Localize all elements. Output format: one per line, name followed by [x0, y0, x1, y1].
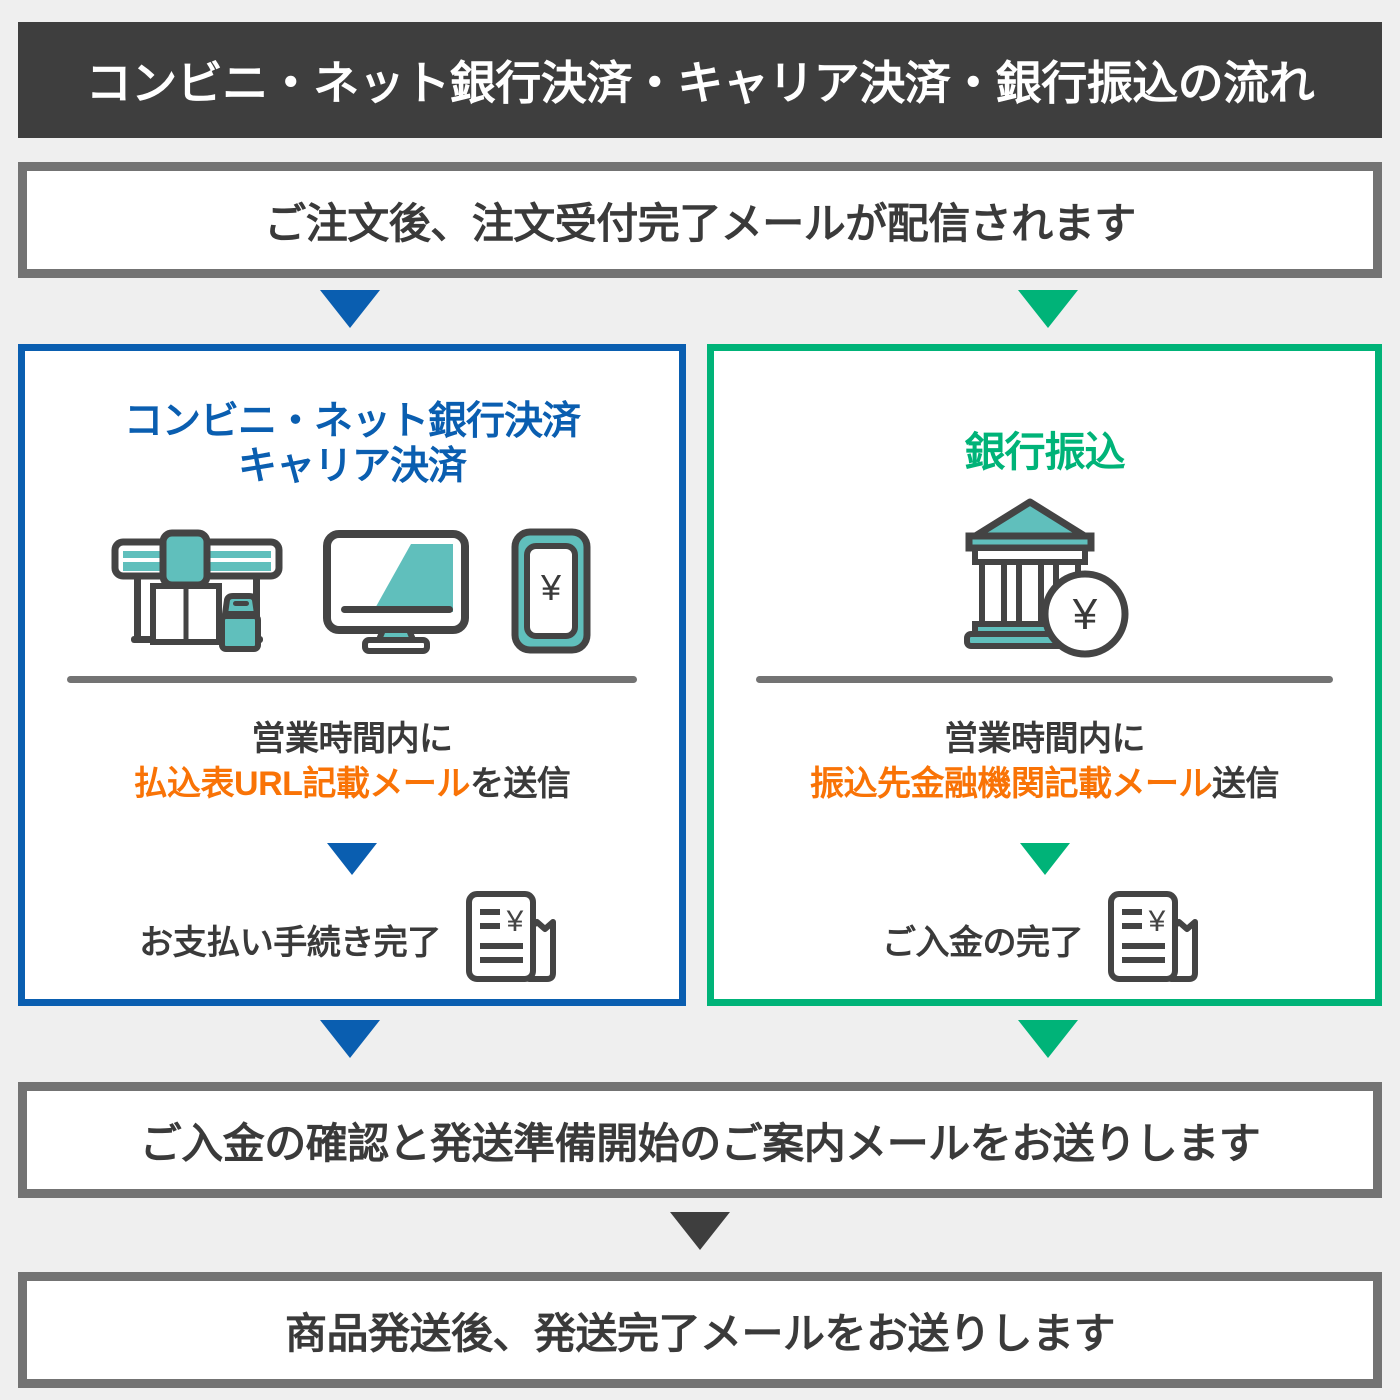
arrow-down-from-conveni-icon [320, 1020, 380, 1058]
panel-conveni-completion: お支払い手続き完了 ¥ [25, 889, 679, 990]
panel-conveni-completion-label: お支払い手続き完了 [139, 915, 441, 964]
panel-conveni-notice-suffix: を送信 [470, 765, 571, 803]
step-payment-confirmation-label: ご入金の確認と発送準備開始のご案内メールをお送りします [140, 1110, 1261, 1171]
panel-conveni-title-line2: キャリア決済 [25, 444, 679, 489]
step-order-confirmation-email: ご注文後、注文受付完了メールが配信されます [18, 162, 1382, 278]
panel-bank-notice: 営業時間内に 振込先金融機関記載メール送信 [714, 717, 1375, 807]
panel-conveni-title: コンビニ・ネット銀行決済 キャリア決済 [25, 399, 679, 489]
arrow-down-to-bank-icon [1018, 290, 1078, 328]
page-title: コンビニ・ネット銀行決済・キャリア決済・銀行振込の流れ [86, 47, 1315, 113]
smartphone-yen-icon: ¥ [507, 528, 595, 659]
panel-bank-notice-suffix: 送信 [1212, 765, 1279, 803]
monitor-icon [321, 528, 471, 659]
step-shipping-complete-label: 商品発送後、発送完了メールをお送りします [285, 1300, 1115, 1361]
svg-text:¥: ¥ [1071, 590, 1097, 639]
arrow-down-to-conveni-icon [320, 290, 380, 328]
panel-bank-notice-highlight: 振込先金融機関記載メール [810, 765, 1212, 803]
convenience-store-icon [109, 528, 285, 659]
step-payment-confirmation-email: ご入金の確認と発送準備開始のご案内メールをお送りします [18, 1082, 1382, 1198]
arrow-down-to-shipped-icon [670, 1212, 730, 1250]
bank-building-yen-icon: ¥ [955, 496, 1135, 666]
panel-conveni-divider [67, 676, 637, 683]
payment-flow-diagram: コンビニ・ネット銀行決済・キャリア決済・銀行振込の流れ ご注文後、注文受付完了メ… [0, 0, 1400, 1400]
arrow-down-bank-icon [1020, 843, 1070, 875]
panel-bank-icon-row: ¥ [714, 501, 1375, 666]
panel-bank-completion-label: ご入金の完了 [882, 915, 1083, 964]
panel-conveni-notice-highlight: 払込表URL記載メール [134, 765, 470, 803]
svg-text:¥: ¥ [540, 567, 562, 608]
panel-bank-divider [756, 676, 1333, 683]
svg-text:¥: ¥ [505, 905, 523, 938]
step-shipping-complete-email: 商品発送後、発送完了メールをお送りします [18, 1272, 1382, 1388]
svg-text:¥: ¥ [1148, 905, 1166, 938]
panel-bank-transfer: 銀行振込 ¥ [707, 344, 1382, 1006]
receipt-icon: ¥ [1097, 889, 1207, 990]
diagram-header: コンビニ・ネット銀行決済・キャリア決済・銀行振込の流れ [18, 22, 1382, 138]
panel-conveni-title-line1: コンビニ・ネット銀行決済 [25, 399, 679, 444]
panel-conveni-notice: 営業時間内に 払込表URL記載メールを送信 [25, 717, 679, 807]
panel-bank-notice-prefix: 営業時間内に [714, 717, 1375, 762]
panel-conveni-notice-prefix: 営業時間内に [25, 717, 679, 762]
panel-conveni-icon-row: ¥ [25, 529, 679, 659]
panel-bank-completion: ご入金の完了 ¥ [714, 889, 1375, 990]
step-order-confirmation-label: ご注文後、注文受付完了メールが配信されます [264, 190, 1136, 251]
arrow-down-conveni-icon [327, 843, 377, 875]
panel-bank-title-line1: 銀行振込 [714, 429, 1375, 477]
panel-bank-title: 銀行振込 [714, 429, 1375, 477]
receipt-icon: ¥ [455, 889, 565, 990]
panel-conveni-payment: コンビニ・ネット銀行決済 キャリア決済 [18, 344, 686, 1006]
arrow-down-from-bank-icon [1018, 1020, 1078, 1058]
